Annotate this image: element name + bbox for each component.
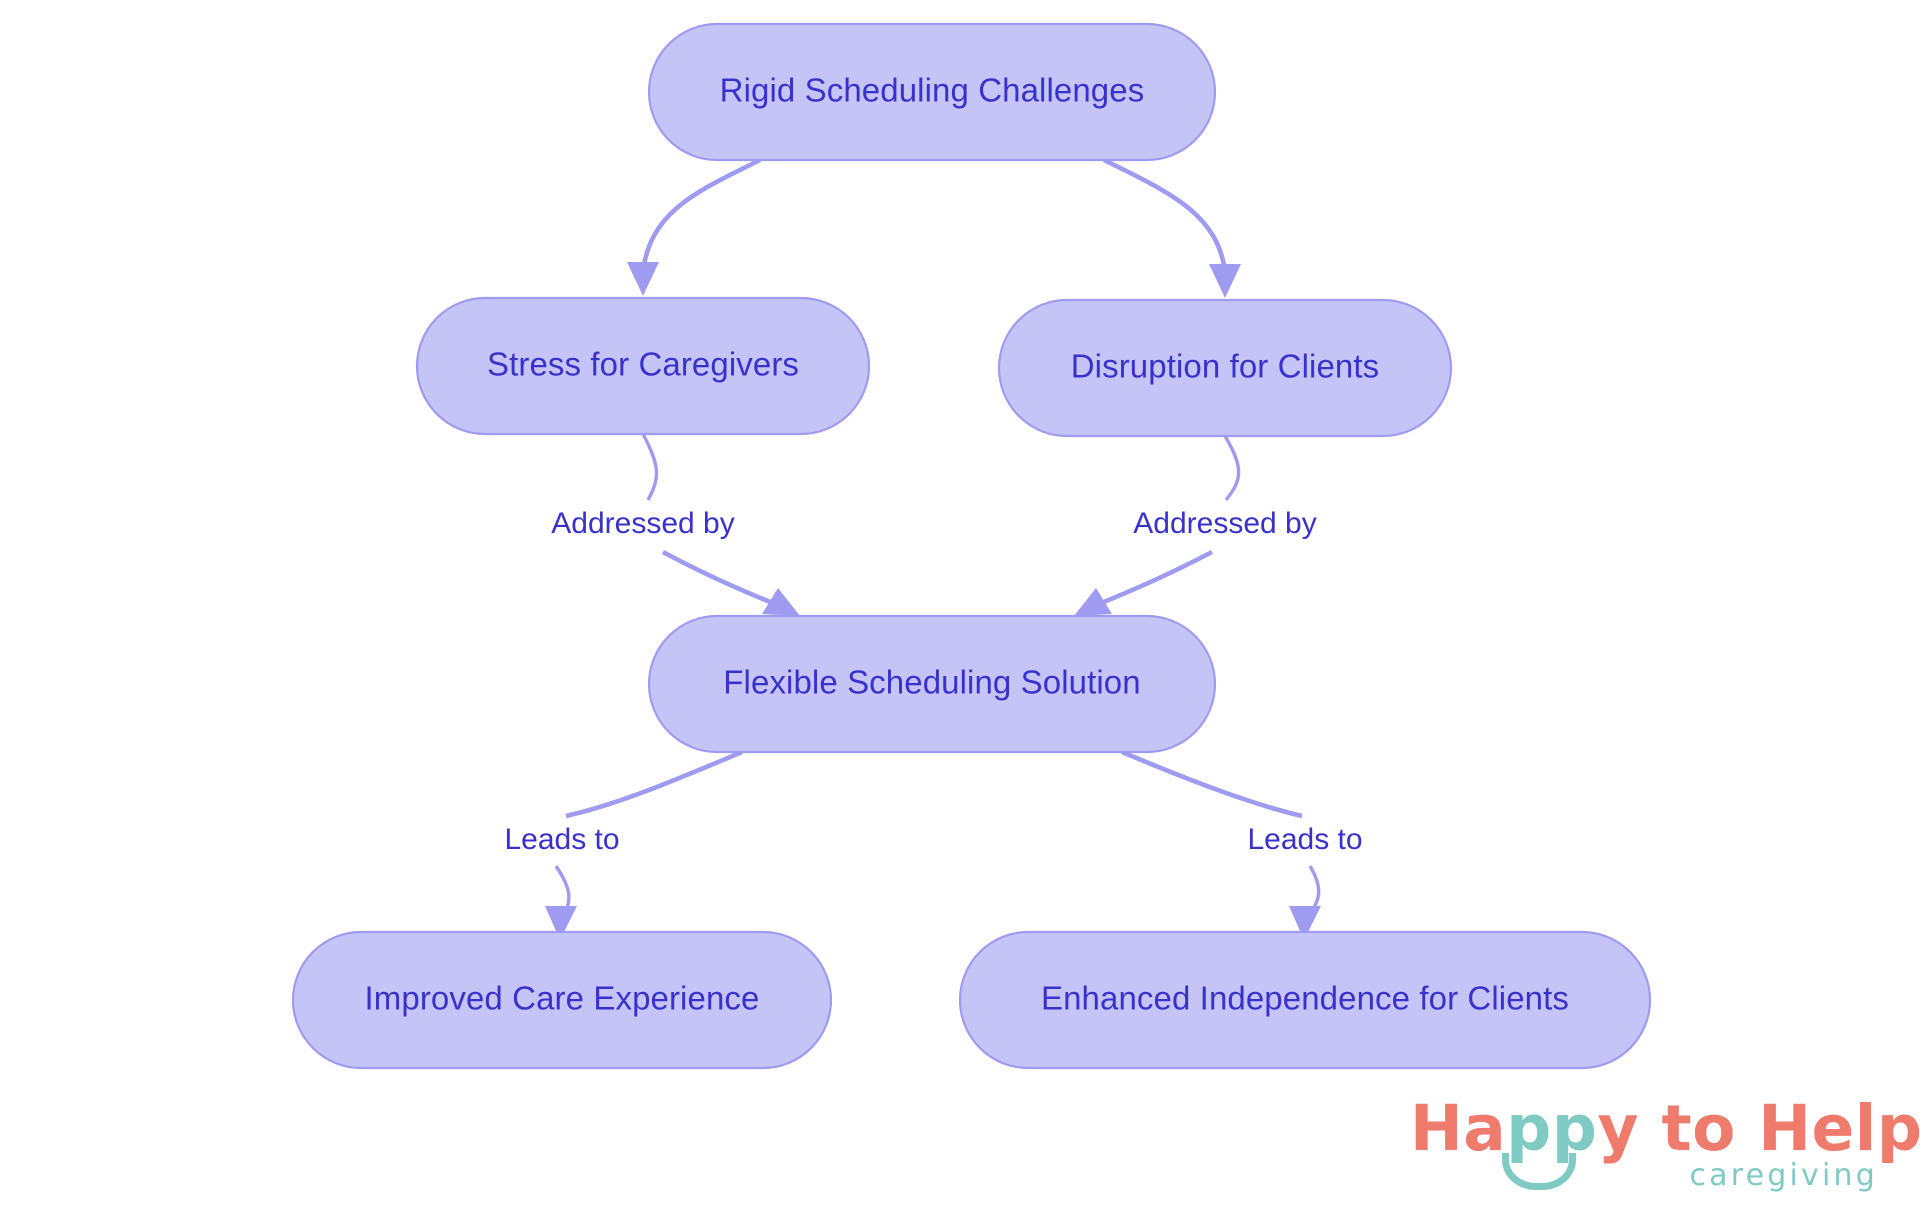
node-label: Improved Care Experience	[365, 980, 760, 1017]
node-rigid-scheduling-challenges[interactable]: Rigid Scheduling Challenges	[649, 24, 1215, 160]
edge-rigid-to-disruption	[1104, 160, 1241, 298]
logo-tagline: caregiving	[1689, 1161, 1878, 1191]
logo-text-ha: Ha	[1410, 1092, 1506, 1165]
edge-path-upper	[1225, 436, 1239, 500]
edge-label-leads-to-right: Leads to	[1247, 823, 1362, 856]
edge-path	[643, 160, 760, 272]
edge-label-leads-to-left: Leads to	[504, 823, 619, 856]
edge-path-upper	[1122, 752, 1302, 816]
node-label: Rigid Scheduling Challenges	[720, 72, 1145, 109]
node-flexible-scheduling-solution[interactable]: Flexible Scheduling Solution	[649, 616, 1215, 752]
node-disruption-for-clients[interactable]: Disruption for Clients	[999, 300, 1451, 436]
flowchart-canvas: Rigid Scheduling Challenges Stress for C…	[0, 0, 1920, 1215]
node-label: Stress for Caregivers	[487, 346, 799, 383]
edge-path-lower	[1094, 552, 1212, 606]
smile-icon	[1502, 1153, 1576, 1190]
node-enhanced-independence-for-clients[interactable]: Enhanced Independence for Clients	[960, 932, 1650, 1068]
logo-text-y: y	[1597, 1092, 1639, 1165]
brand-logo: Happy to Help caregiving	[1410, 1097, 1880, 1207]
edge-path-lower	[663, 552, 780, 606]
edge-path-upper	[643, 434, 656, 500]
node-label: Disruption for Clients	[1071, 348, 1379, 385]
logo-wordmark: Happy to Help	[1410, 1097, 1920, 1160]
edge-label-addressed-by-left: Addressed by	[551, 507, 734, 540]
edge-label-addressed-by-right: Addressed by	[1133, 507, 1316, 540]
flowchart-svg: Rigid Scheduling Challenges Stress for C…	[0, 0, 1920, 1215]
node-group: Rigid Scheduling Challenges Stress for C…	[293, 24, 1650, 1068]
node-improved-care-experience[interactable]: Improved Care Experience	[293, 932, 831, 1068]
arrow-head-icon	[1209, 264, 1241, 298]
node-label: Flexible Scheduling Solution	[723, 664, 1140, 701]
node-label: Enhanced Independence for Clients	[1041, 980, 1569, 1017]
arrow-head-icon	[627, 262, 659, 296]
node-stress-for-caregivers[interactable]: Stress for Caregivers	[417, 298, 869, 434]
edge-group	[545, 160, 1321, 940]
logo-text-to-help: to Help	[1639, 1092, 1920, 1165]
edge-path-upper	[566, 752, 742, 816]
edge-rigid-to-stress	[627, 160, 760, 296]
edge-path	[1104, 160, 1225, 272]
